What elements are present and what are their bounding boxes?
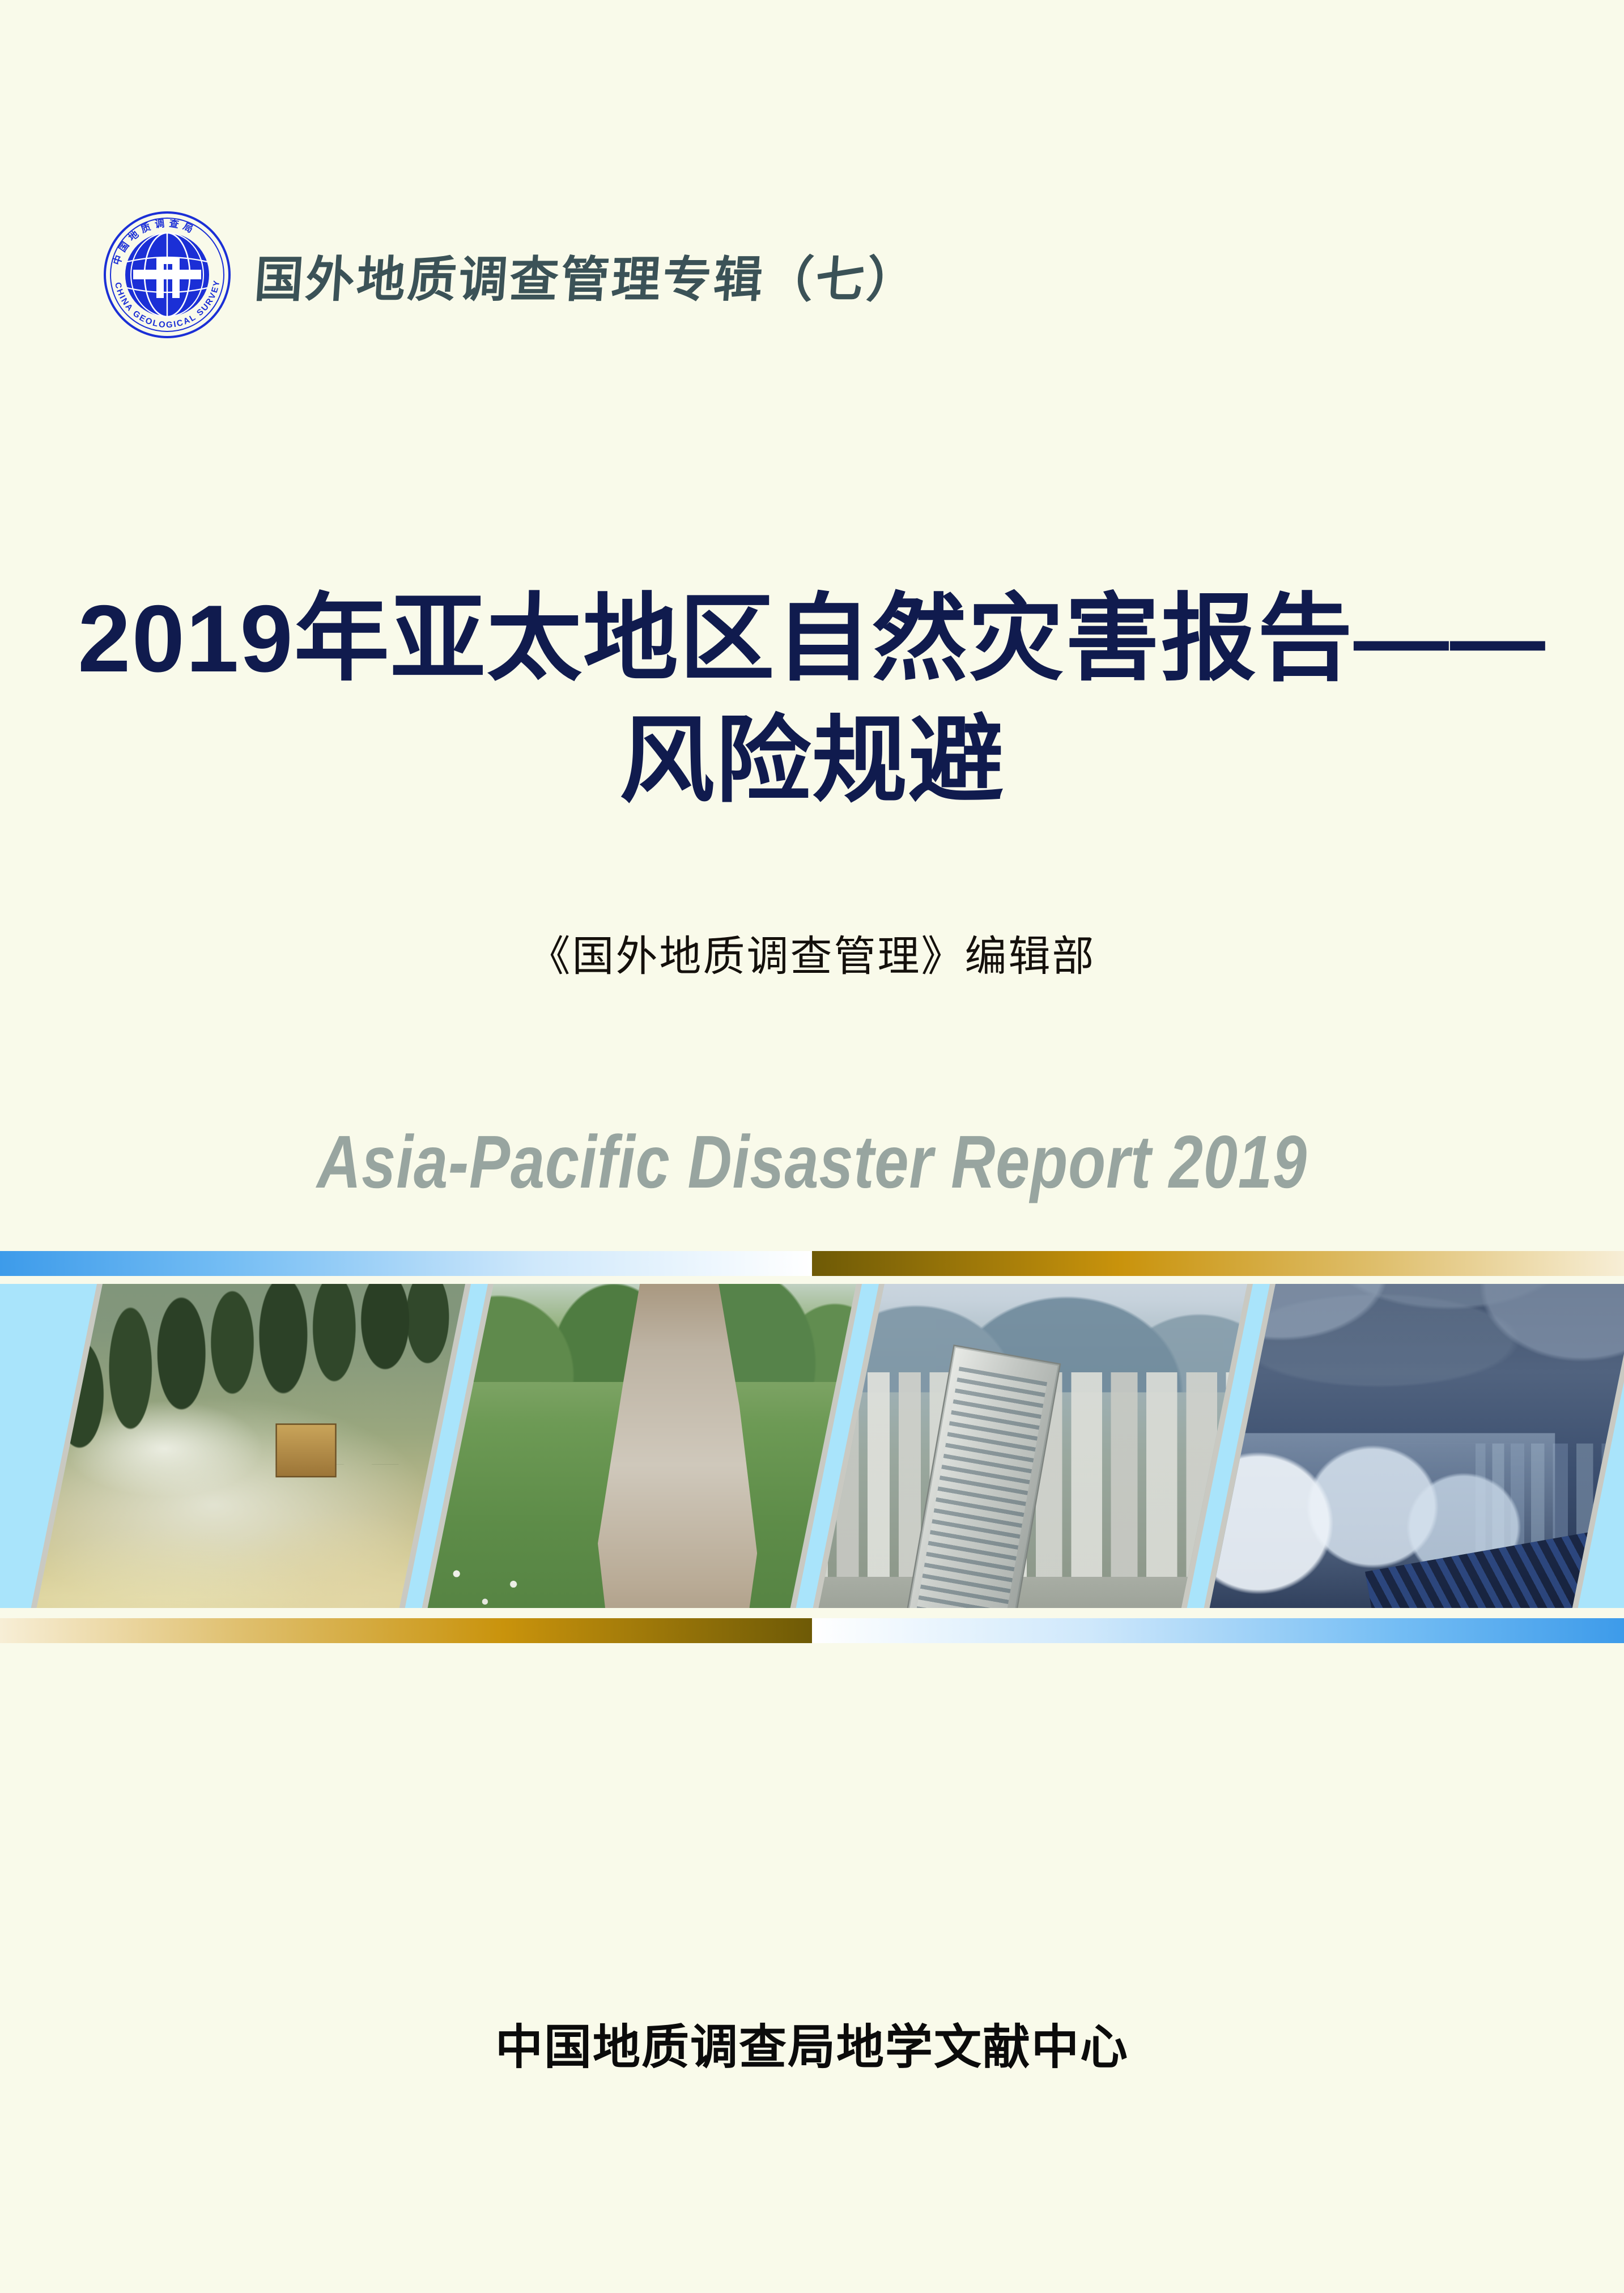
flood-storm-surge-photo bbox=[25, 1284, 474, 1608]
title-line-1: 2019年亚太地区自然灾害报告—— bbox=[0, 578, 1624, 700]
bottom-rule-gold-half bbox=[0, 1618, 812, 1643]
disaster-photo-band bbox=[0, 1284, 1624, 1608]
china-geological-survey-logo: 中国地质调查局 CHINA GEOLOGICAL SURVEY bbox=[102, 210, 232, 340]
publisher-line: 中国地质调查局地学文献中心 bbox=[0, 2009, 1624, 2078]
masthead: 中国地质调查局 CHINA GEOLOGICAL SURVEY 国外地质调查管理… bbox=[102, 210, 918, 340]
top-rule-gold-half bbox=[812, 1251, 1624, 1276]
top-decorative-rule bbox=[0, 1251, 1624, 1276]
title-line-2: 风险规避 bbox=[0, 700, 1624, 822]
bottom-rule-blue-half bbox=[812, 1618, 1624, 1643]
series-title: 国外地质调查管理专辑（七） bbox=[253, 240, 921, 310]
top-rule-blue-half bbox=[0, 1251, 812, 1276]
tsunami-photo bbox=[1198, 1284, 1624, 1608]
bottom-decorative-rule bbox=[0, 1618, 1624, 1643]
page-title: 2019年亚太地区自然灾害报告—— 风险规避 bbox=[0, 578, 1624, 822]
landslide-photo bbox=[416, 1284, 865, 1608]
cover-page: 中国地质调查局 CHINA GEOLOGICAL SURVEY 国外地质调查管理… bbox=[0, 0, 1624, 2293]
english-subtitle: Asia-Pacific Disaster Report 2019 bbox=[146, 1119, 1478, 1205]
earthquake-collapsed-building-photo bbox=[807, 1284, 1256, 1608]
editor-line: 《国外地质调查管理》编辑部 bbox=[0, 922, 1624, 983]
